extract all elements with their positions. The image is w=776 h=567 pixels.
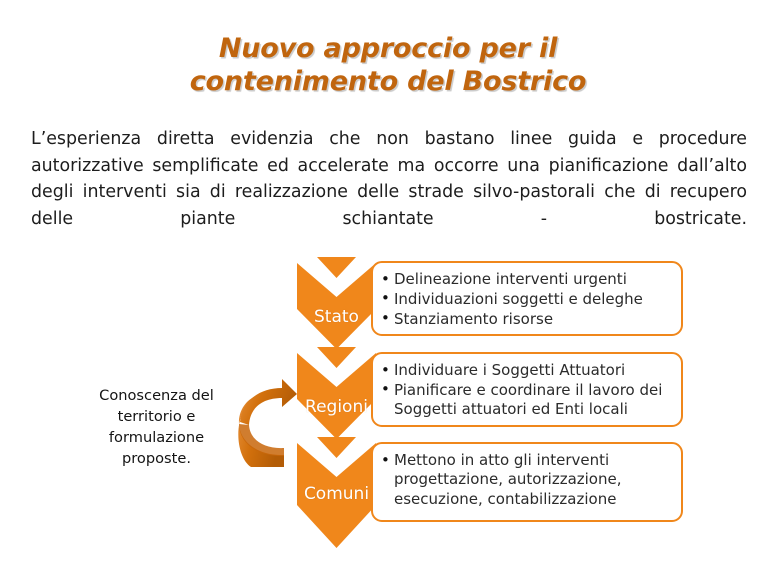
bullet-list-regioni: Individuare i Soggetti Attuatori Pianifi…	[373, 354, 681, 427]
chevron-label-comuni: Comuni	[297, 484, 376, 504]
slide-canvas: Nuovo approccio per il contenimento del …	[0, 0, 776, 567]
list-item: Stanziamento risorse	[381, 310, 671, 329]
chevron-label-regioni: Regioni	[297, 397, 376, 417]
chevron-label-stato: Stato	[297, 307, 376, 327]
list-item: Delineazione interventi urgenti	[381, 270, 671, 289]
chevron-regioni[interactable]	[297, 347, 376, 439]
callout-regioni[interactable]: Individuare i Soggetti Attuatori Pianifi…	[371, 352, 683, 427]
list-item: Individuazioni soggetti e deleghe	[381, 290, 671, 309]
bullet-list-stato: Delineazione interventi urgenti Individu…	[373, 263, 681, 337]
callout-stato[interactable]: Delineazione interventi urgenti Individu…	[371, 261, 683, 336]
list-item: Mettono in atto gli interventi progettaz…	[381, 451, 671, 509]
chevron-stato[interactable]	[297, 257, 376, 349]
bullet-list-comuni: Mettono in atto gli interventi progettaz…	[373, 444, 681, 517]
list-item: Pianificare e coordinare il lavoro dei S…	[381, 381, 671, 420]
callout-comuni[interactable]: Mettono in atto gli interventi progettaz…	[371, 442, 683, 522]
list-item: Individuare i Soggetti Attuatori	[381, 361, 671, 380]
hierarchy-diagram: Stato Regioni Comuni Delineazione interv…	[0, 0, 776, 567]
